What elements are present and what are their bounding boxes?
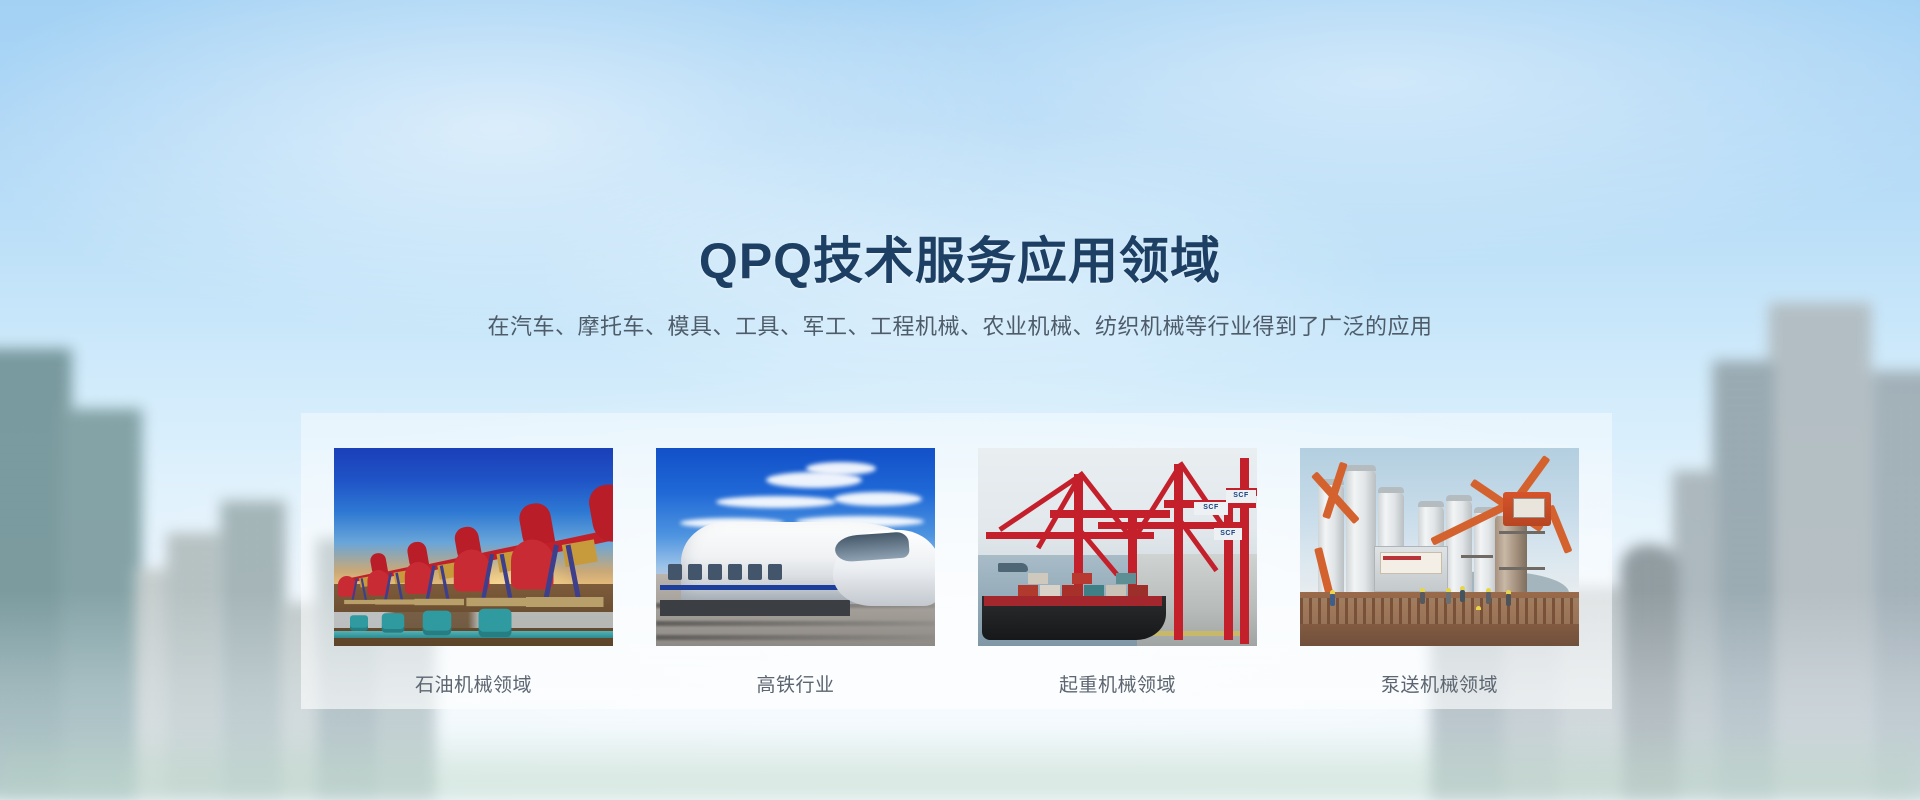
- high-speed-train-photo[interactable]: [656, 448, 935, 646]
- card-label: 高铁行业: [656, 670, 935, 697]
- page-title: QPQ技术服务应用领域: [0, 236, 1920, 286]
- card-label: 起重机械领域: [978, 670, 1257, 697]
- hero-banner: QPQ技术服务应用领域 在汽车、摩托车、模具、工具、军工、工程机械、农业机械、纺…: [0, 0, 1920, 800]
- port-gantry-crane-photo[interactable]: SCF SCF SCF: [978, 448, 1257, 646]
- oil-pumpjacks-photo[interactable]: [334, 448, 613, 646]
- application-fields-panel: 石油机械领域: [301, 413, 1612, 709]
- card-label: 石油机械领域: [334, 670, 613, 697]
- card-pumping-machinery[interactable]: 泵送机械领域: [1300, 448, 1579, 697]
- hero-headings: QPQ技术服务应用领域 在汽车、摩托车、模具、工具、军工、工程机械、农业机械、纺…: [0, 0, 1920, 340]
- card-lifting-machinery[interactable]: SCF SCF SCF: [978, 448, 1257, 697]
- concrete-pump-photo[interactable]: [1300, 448, 1579, 646]
- card-label: 泵送机械领域: [1300, 670, 1579, 697]
- page-subtitle: 在汽车、摩托车、模具、工具、军工、工程机械、农业机械、纺织机械等行业得到了广泛的…: [0, 314, 1920, 340]
- card-oil-machinery[interactable]: 石油机械领域: [334, 448, 613, 697]
- card-high-speed-rail[interactable]: 高铁行业: [656, 448, 935, 697]
- application-cards-row: 石油机械领域: [334, 448, 1579, 697]
